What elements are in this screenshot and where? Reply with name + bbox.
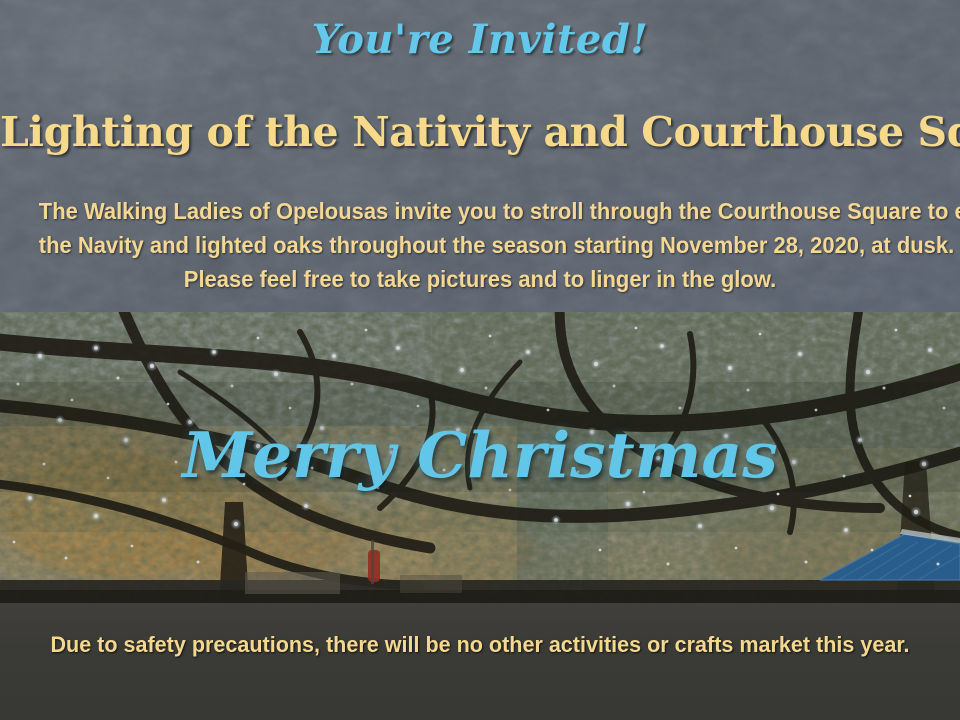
description-line-1: The Walking Ladies of Opelousas invite y…: [39, 194, 921, 228]
event-description: The Walking Ladies of Opelousas invite y…: [39, 194, 921, 296]
event-invitation-poster: You're Invited! Lighting of the Nativity…: [0, 0, 960, 720]
safety-notice: Due to safety precautions, there will be…: [10, 632, 951, 658]
invited-heading: You're Invited!: [0, 16, 960, 63]
footer-banner: Due to safety precautions, there will be…: [0, 603, 960, 720]
page-title: Lighting of the Nativity and Courthouse …: [0, 108, 960, 156]
description-line-3: Please feel free to take pictures and to…: [39, 262, 921, 296]
courthouse-square-photo: Merry Christmas: [0, 312, 960, 603]
header-panel: You're Invited! Lighting of the Nativity…: [0, 0, 960, 312]
description-line-2: the Navity and lighted oaks throughout t…: [39, 228, 921, 262]
merry-christmas-greeting: Merry Christmas: [0, 418, 960, 492]
